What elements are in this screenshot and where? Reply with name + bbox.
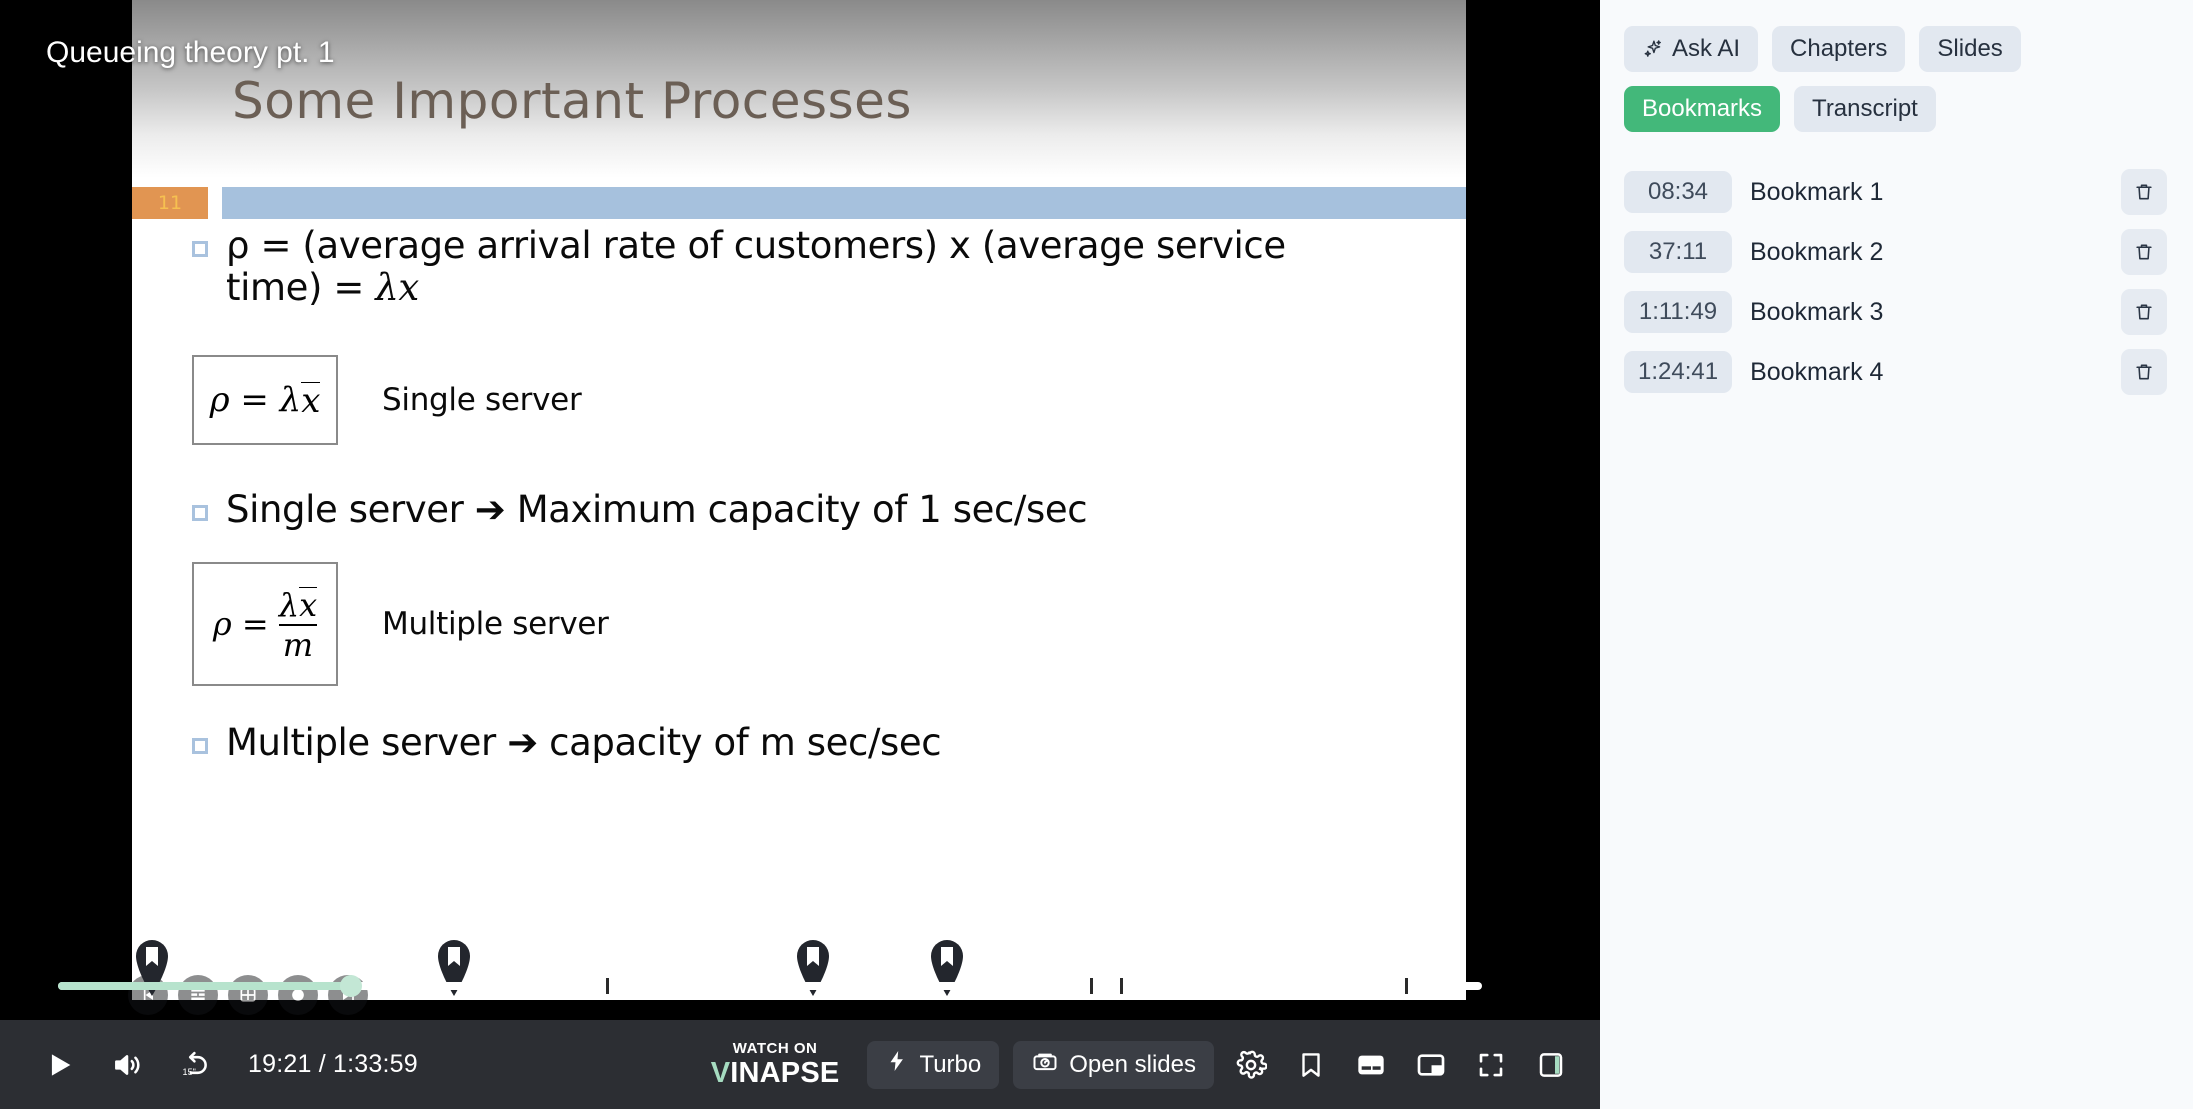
open-slides-label: Open slides <box>1069 1051 1196 1079</box>
slide-bullet-1: ρ = (average arrival rate of customers) … <box>192 225 1430 309</box>
tab-bookmarks[interactable]: Bookmarks <box>1624 86 1780 132</box>
toggle-sidebar-button[interactable] <box>1528 1042 1574 1088</box>
slide-number-badge: 11 <box>132 187 208 219</box>
bullet-1-line2-math: λx <box>375 266 419 309</box>
formula-1-lambda: λ <box>280 380 302 420</box>
formula-2-xbar: x <box>299 587 317 621</box>
progress-bar-area[interactable] <box>0 910 1600 1020</box>
formula-2-denominator: m <box>279 624 317 661</box>
bullet-square-icon <box>192 241 208 257</box>
chapter-tick <box>1120 978 1123 994</box>
formula-2-label: Multiple server <box>382 606 609 642</box>
sparkle-icon <box>1642 38 1664 60</box>
tab-chapters[interactable]: Chapters <box>1772 26 1905 72</box>
progress-track[interactable] <box>58 982 1482 990</box>
vinapse-brand: VINAPSE <box>711 1059 840 1088</box>
tab-transcript-label: Transcript <box>1812 95 1918 123</box>
slide-formula-row-1: ρ = λx Single server <box>192 355 1430 445</box>
bookmark-row[interactable]: 1:24:41 Bookmark 4 <box>1624 342 2169 402</box>
tab-bookmarks-label: Bookmarks <box>1642 95 1762 123</box>
watch-on-vinapse-logo[interactable]: WATCH ON VINAPSE <box>711 1041 840 1088</box>
bullet-square-icon <box>192 505 208 521</box>
video-player-page: Some Important Processes 11 ρ = (average… <box>0 0 2193 1109</box>
picture-in-picture-button[interactable] <box>1408 1042 1454 1088</box>
video-stage[interactable]: Some Important Processes 11 ρ = (average… <box>0 0 1600 1020</box>
slide-bullet-3: Multiple server ➔ capacity of m sec/sec <box>192 722 1430 764</box>
tab-slides[interactable]: Slides <box>1919 26 2020 72</box>
bookmark-row[interactable]: 1:11:49 Bookmark 3 <box>1624 282 2169 342</box>
slide-bullet-1-text: ρ = (average arrival rate of customers) … <box>226 225 1286 309</box>
sidebar-tabs-row-1: Ask AI Chapters Slides <box>1624 26 2169 72</box>
bookmark-row[interactable]: 08:34 Bookmark 1 <box>1624 162 2169 222</box>
rewind-15-button[interactable]: 15" <box>172 1042 218 1088</box>
slide-accent-bar <box>222 187 1466 219</box>
slide-bullet-3-text: Multiple server ➔ capacity of m sec/sec <box>226 722 941 764</box>
bullet-1-line2-pre: time) = <box>226 266 375 309</box>
bookmark-label[interactable]: Bookmark 2 <box>1750 238 2103 267</box>
vinapse-brand-rest: INAPSE <box>730 1057 839 1089</box>
add-bookmark-button[interactable] <box>1288 1042 1334 1088</box>
formula-box-single-server: ρ = λx <box>192 355 338 445</box>
time-display: 19:21 / 1:33:59 <box>248 1050 418 1079</box>
video-player[interactable]: Some Important Processes 11 ρ = (average… <box>0 0 1600 1109</box>
formula-1-label: Single server <box>382 382 581 418</box>
sidebar-panel: Ask AI Chapters Slides Bookmarks Transcr… <box>1600 0 2193 1109</box>
tab-slides-label: Slides <box>1937 35 2002 63</box>
formula-1-rho: ρ = <box>210 380 269 420</box>
volume-button[interactable] <box>104 1042 150 1088</box>
video-title-overlay: Queueing theory pt. 1 <box>46 36 335 70</box>
tab-ask-ai-label: Ask AI <box>1672 35 1740 63</box>
play-button[interactable] <box>36 1042 82 1088</box>
turbo-button[interactable]: Turbo <box>867 1041 999 1089</box>
slide-number-bar: 11 <box>132 187 1466 219</box>
tab-transcript[interactable]: Transcript <box>1794 86 1936 132</box>
bookmark-label[interactable]: Bookmark 4 <box>1750 358 2103 387</box>
control-bar-right-group: WATCH ON VINAPSE Turbo <box>711 1041 1600 1089</box>
settings-gear-button[interactable] <box>1228 1042 1274 1088</box>
control-bar-left-group: 15" 19:21 / 1:33:59 <box>0 1042 418 1088</box>
formula-2-rho: ρ = <box>213 605 269 643</box>
bookmark-row[interactable]: 37:11 Bookmark 2 <box>1624 222 2169 282</box>
bullet-1-line1: ρ = (average arrival rate of customers) … <box>226 224 1286 267</box>
slide-title: Some Important Processes <box>232 72 912 130</box>
chapter-tick <box>1090 978 1093 994</box>
watch-on-label: WATCH ON <box>733 1041 818 1056</box>
delete-bookmark-button[interactable] <box>2121 169 2167 215</box>
formula-2-lambda: λ <box>279 586 299 624</box>
chapter-tick <box>606 978 609 994</box>
slide-formula-row-2: ρ = λx m Multiple server <box>192 562 1430 686</box>
projector-icon <box>1031 1047 1059 1082</box>
bookmark-list: 08:34 Bookmark 1 37:11 Bookmark 2 <box>1624 162 2169 402</box>
sidebar-tabs-row-2: Bookmarks Transcript <box>1624 86 2169 132</box>
tab-ask-ai[interactable]: Ask AI <box>1624 26 1758 72</box>
player-control-bar: 15" 19:21 / 1:33:59 WATCH ON VINAPSE Tur… <box>0 1020 1600 1109</box>
progress-thumb[interactable] <box>340 975 362 997</box>
formula-2-numerator: λx <box>279 587 317 624</box>
formula-box-multiple-server: ρ = λx m <box>192 562 338 686</box>
bolt-icon <box>885 1049 909 1080</box>
delete-bookmark-button[interactable] <box>2121 229 2167 275</box>
bookmark-timestamp[interactable]: 1:11:49 <box>1624 291 1732 333</box>
bookmark-timestamp[interactable]: 1:24:41 <box>1624 351 1732 393</box>
bookmark-label[interactable]: Bookmark 3 <box>1750 298 2103 327</box>
slide-header-band: Some Important Processes <box>132 0 1466 178</box>
formula-2-fraction: λx m <box>279 587 317 661</box>
svg-text:15": 15" <box>183 1067 196 1077</box>
open-slides-button[interactable]: Open slides <box>1013 1041 1214 1089</box>
formula-1-xbar: x <box>301 382 320 418</box>
delete-bookmark-button[interactable] <box>2121 349 2167 395</box>
bookmark-timestamp[interactable]: 08:34 <box>1624 171 1732 213</box>
delete-bookmark-button[interactable] <box>2121 289 2167 335</box>
bookmark-timestamp[interactable]: 37:11 <box>1624 231 1732 273</box>
slide-bullet-2-text: Single server ➔ Maximum capacity of 1 se… <box>226 489 1087 531</box>
vinapse-brand-v: V <box>711 1057 731 1089</box>
progress-played <box>58 982 351 990</box>
captions-button[interactable] <box>1348 1042 1394 1088</box>
slide-content: Some Important Processes 11 ρ = (average… <box>132 0 1466 1000</box>
slide-bullet-2: Single server ➔ Maximum capacity of 1 se… <box>192 489 1430 531</box>
bullet-square-icon <box>192 738 208 754</box>
tab-chapters-label: Chapters <box>1790 35 1887 63</box>
fullscreen-button[interactable] <box>1468 1042 1514 1088</box>
turbo-label: Turbo <box>919 1051 981 1079</box>
bookmark-label[interactable]: Bookmark 1 <box>1750 178 2103 207</box>
chapter-tick <box>1405 978 1408 994</box>
slide-body: ρ = (average arrival rate of customers) … <box>132 225 1466 764</box>
